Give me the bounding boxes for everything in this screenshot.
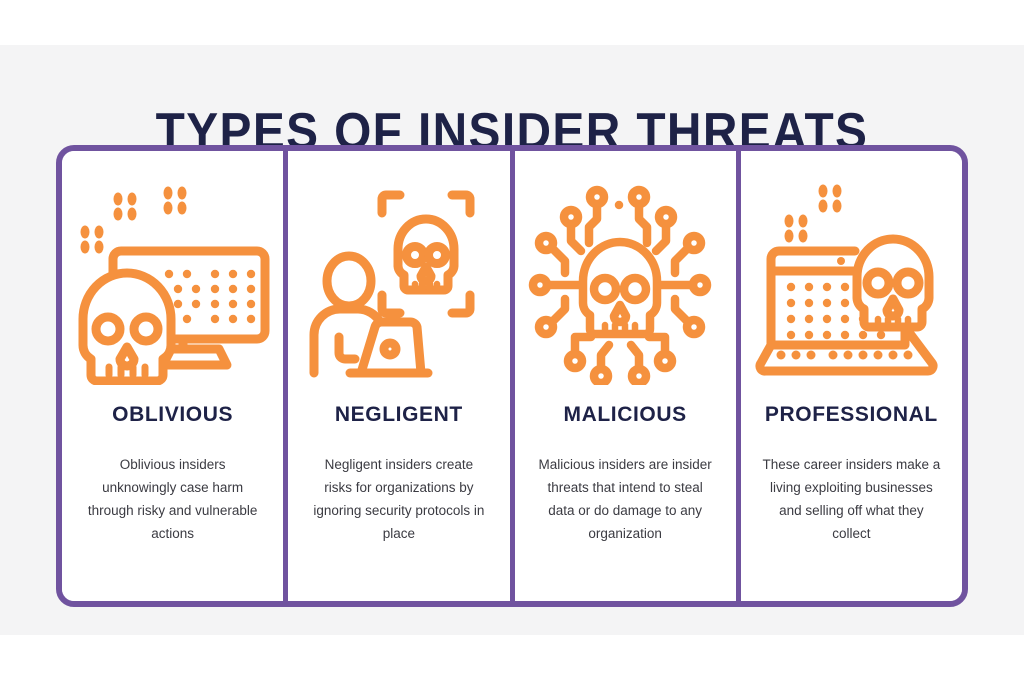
threat-types-frame: OBLIVIOUS Oblivious insiders unknowingly…: [56, 145, 968, 607]
card-description: Negligent insiders create risks for orga…: [291, 453, 506, 545]
laptop-with-skull-icon: [741, 151, 962, 403]
skull-with-circuit-traces-icon: [515, 151, 736, 403]
card-heading: PROFESSIONAL: [765, 403, 938, 427]
card-heading: MALICIOUS: [564, 403, 687, 427]
card-description: These career insiders make a living expl…: [744, 453, 959, 545]
skull-with-desktop-monitor-icon: [62, 151, 283, 403]
infographic-page: TYPES OF INSIDER THREATS: [0, 0, 1024, 680]
threat-card-professional[interactable]: PROFESSIONAL These career insiders make …: [736, 151, 962, 601]
card-heading: OBLIVIOUS: [112, 403, 233, 427]
threat-card-malicious[interactable]: MALICIOUS Malicious insiders are insider…: [510, 151, 736, 601]
person-at-laptop-with-skull-scan-icon: [288, 151, 509, 403]
threat-card-negligent[interactable]: NEGLIGENT Negligent insiders create risk…: [283, 151, 509, 601]
card-description: Oblivious insiders unknowingly case harm…: [65, 453, 280, 545]
threat-card-oblivious[interactable]: OBLIVIOUS Oblivious insiders unknowingly…: [62, 151, 283, 601]
card-heading: NEGLIGENT: [335, 403, 463, 427]
card-description: Malicious insiders are insider threats t…: [518, 453, 733, 545]
